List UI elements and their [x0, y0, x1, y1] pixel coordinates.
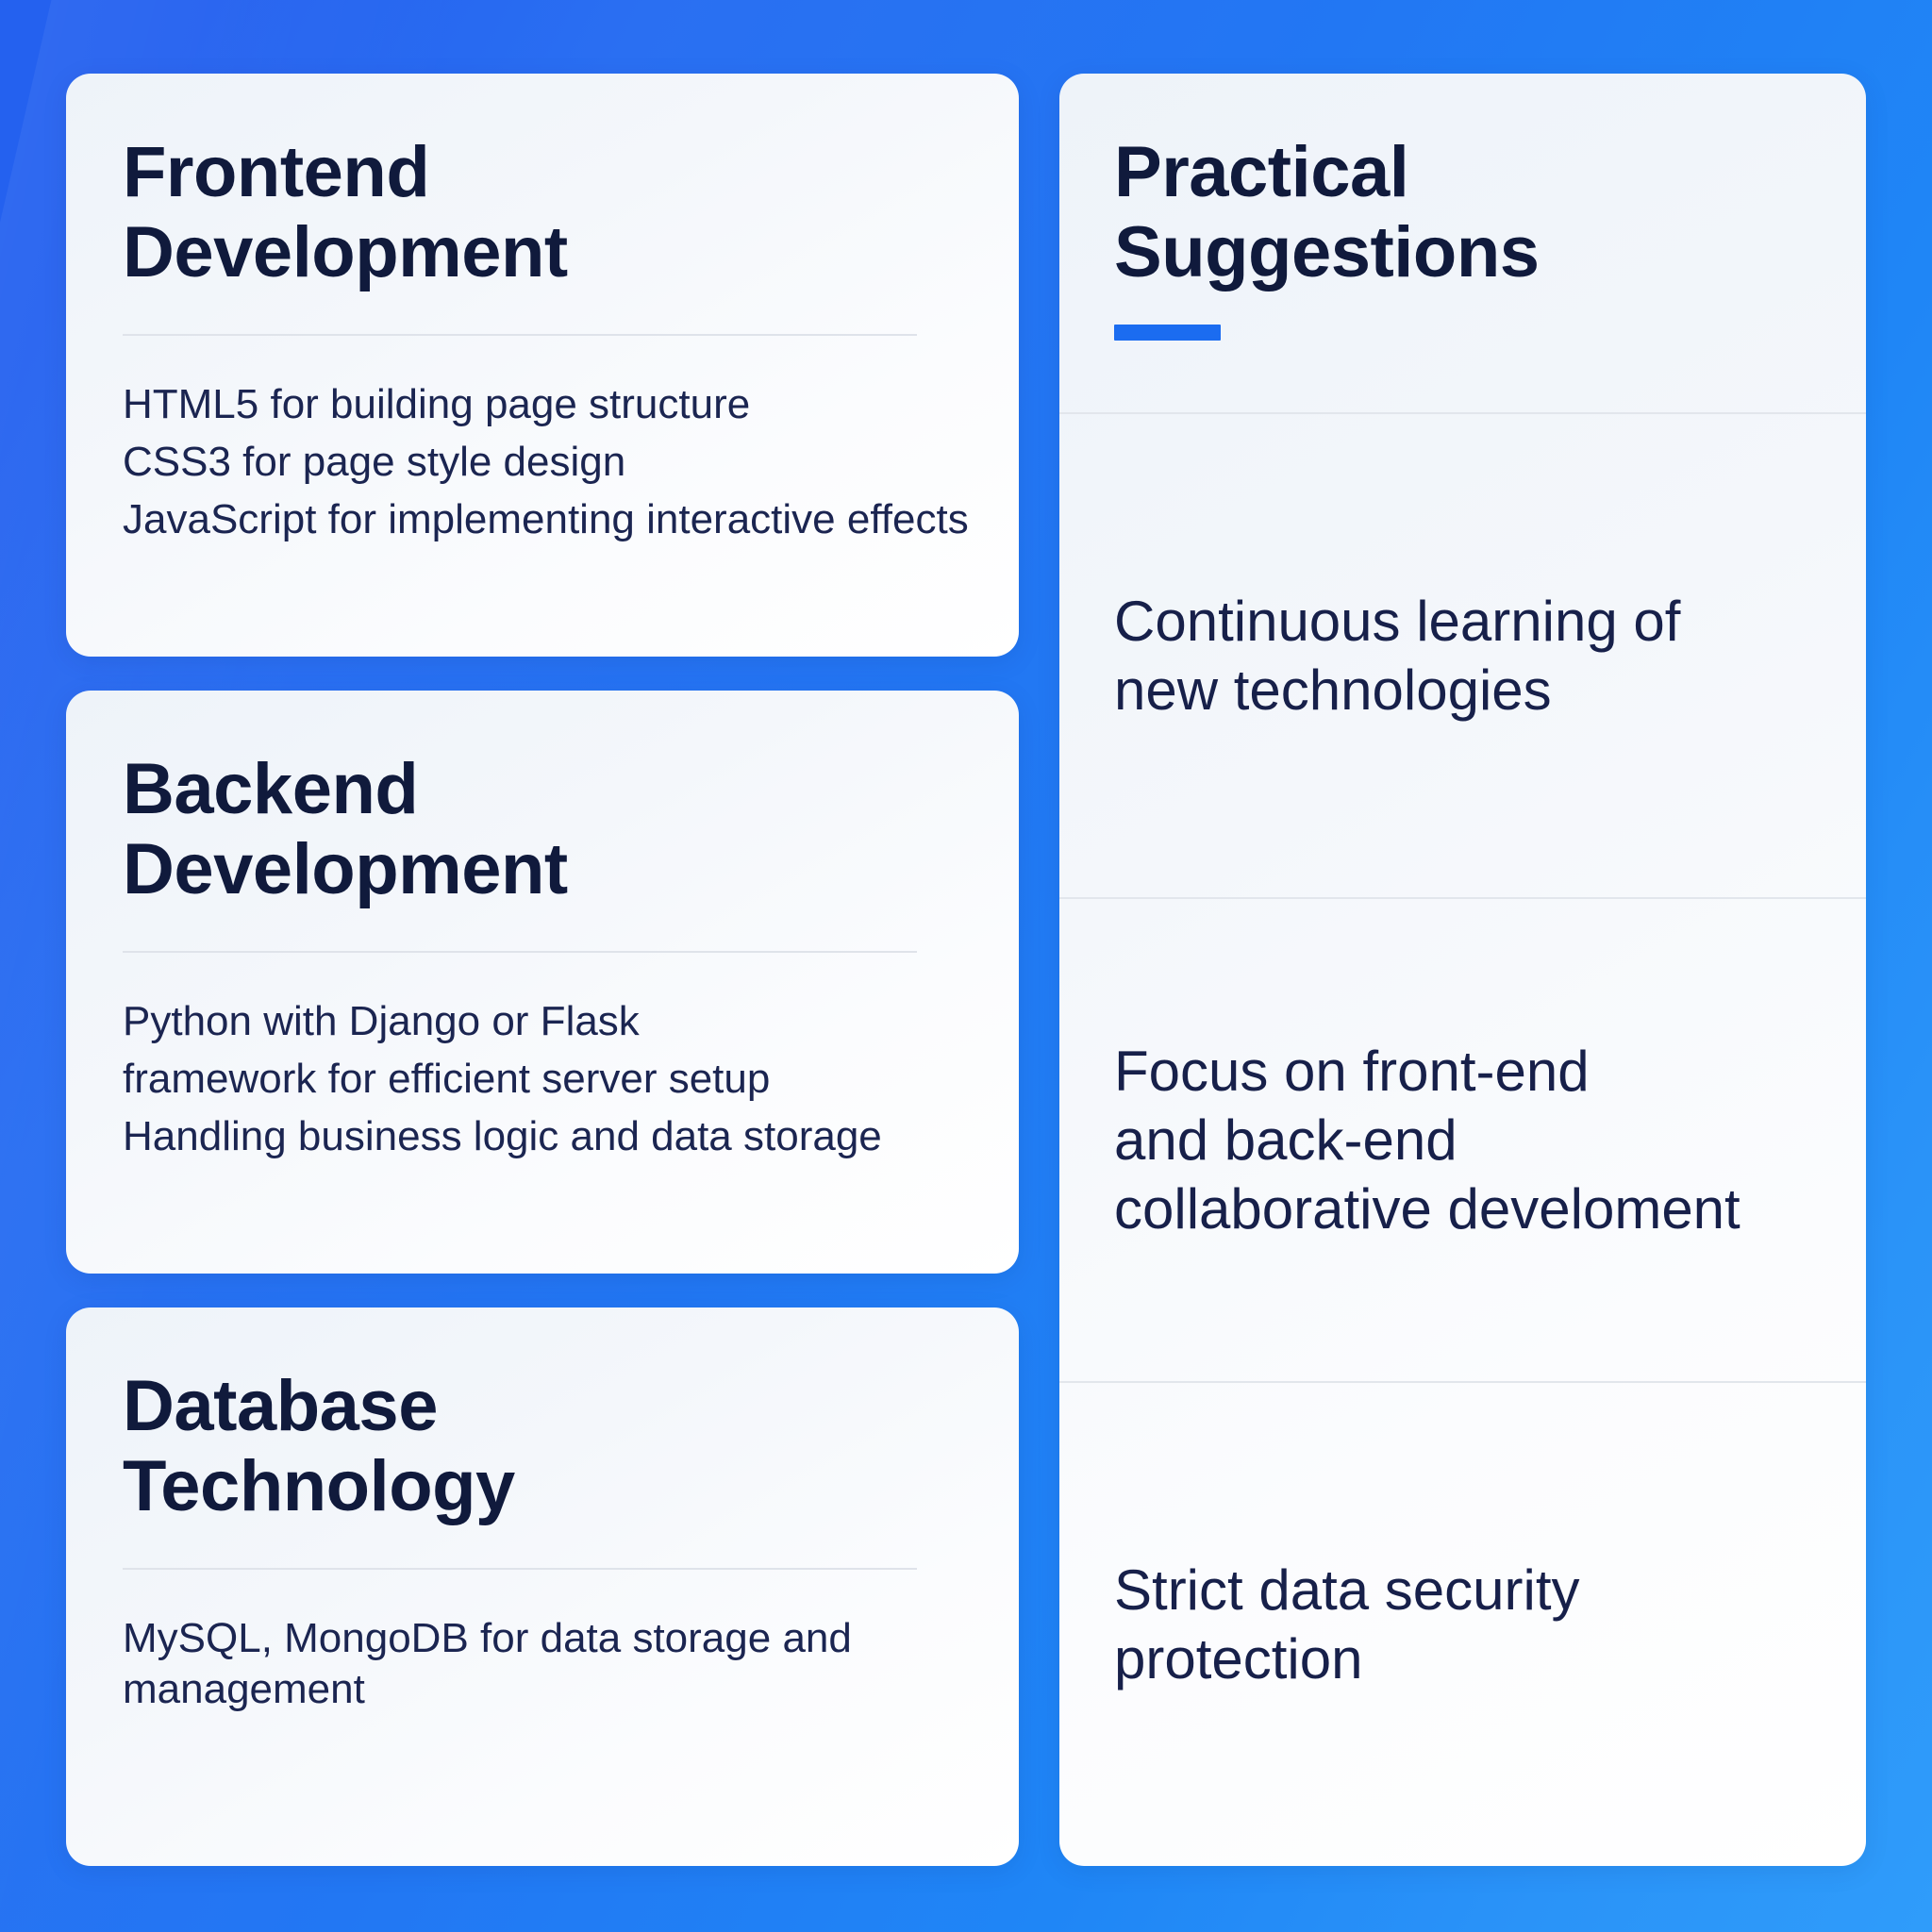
practical-suggestions-header: Practical Suggestions [1059, 132, 1866, 341]
right-column: Practical Suggestions Continuous learnin… [1059, 74, 1866, 1866]
body-line: Handling business logic and data storage [123, 1111, 962, 1162]
body-line: HTML5 for building page structure [123, 379, 962, 430]
card-backend-development[interactable]: Backend Development Python with Django o… [66, 691, 1019, 1274]
list-item[interactable]: Continuous learning of new technologies [1059, 412, 1866, 897]
list-item[interactable]: Strict data security protection [1059, 1381, 1866, 1866]
card-divider [123, 1568, 917, 1570]
card-title-frontend: Frontend Development [123, 132, 962, 292]
card-title-practical-suggestions: Practical Suggestions [1114, 132, 1811, 292]
card-body-frontend: HTML5 for building page structure CSS3 f… [123, 379, 962, 544]
poster-root: Frontend Development HTML5 for building … [0, 0, 1932, 1932]
card-database-technology[interactable]: Database Technology MySQL, MongoDB for d… [66, 1307, 1019, 1866]
content-grid: Frontend Development HTML5 for building … [0, 0, 1932, 1932]
card-title-backend: Backend Development [123, 749, 962, 909]
accent-underline-bar [1114, 325, 1221, 341]
card-body-backend: Python with Django or Flask framework fo… [123, 996, 962, 1161]
body-line: framework for efficient server setup [123, 1054, 962, 1105]
body-line: Python with Django or Flask [123, 996, 962, 1047]
card-divider [123, 951, 917, 953]
card-frontend-development[interactable]: Frontend Development HTML5 for building … [66, 74, 1019, 657]
list-item[interactable]: Focus on front-end and back-end collabor… [1059, 897, 1866, 1382]
body-line: JavaScript for implementing interactive … [123, 494, 962, 545]
list-item-label: Focus on front-end and back-end collabor… [1114, 1037, 1740, 1244]
card-divider [123, 334, 917, 336]
card-title-database: Database Technology [123, 1366, 962, 1526]
left-column: Frontend Development HTML5 for building … [66, 74, 1019, 1866]
body-line: CSS3 for page style design [123, 437, 962, 488]
list-item-label: Strict data security protection [1114, 1556, 1580, 1693]
suggestions-list: Continuous learning of new technologies … [1059, 412, 1866, 1866]
card-practical-suggestions[interactable]: Practical Suggestions Continuous learnin… [1059, 74, 1866, 1866]
body-line: MySQL, MongoDB for data storage and mana… [123, 1613, 962, 1714]
card-body-database: MySQL, MongoDB for data storage and mana… [123, 1613, 962, 1714]
list-item-label: Continuous learning of new technologies [1114, 587, 1680, 724]
